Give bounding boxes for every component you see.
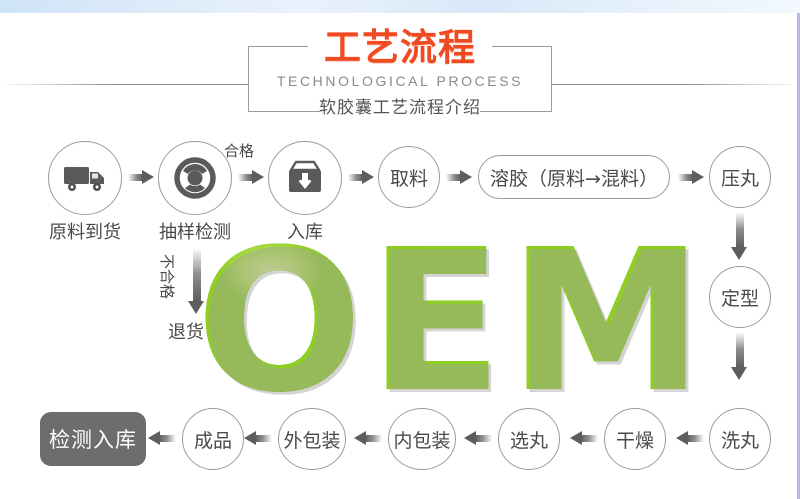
node-shaping[interactable]: 定型 [709, 266, 771, 328]
inbox-down-icon [269, 142, 341, 214]
node-label-final-inspection-warehouse: 检测入库 [49, 424, 137, 454]
label-pass: 合格 [224, 140, 254, 161]
arrow-pickup-to-gel [446, 172, 472, 183]
node-label-material-pickup: 取料 [390, 164, 428, 191]
arrow-drying-to-selection [570, 433, 598, 444]
page-title: 工艺流程 [0, 28, 800, 68]
node-drying[interactable]: 干燥 [604, 408, 666, 470]
arrow-selection-to-inner-packaging [464, 433, 492, 444]
top-decorative-band [0, 0, 800, 13]
node-label-pill-washing: 洗丸 [721, 426, 759, 453]
node-gel-dissolving[interactable]: 溶胶（原料→混料） [478, 155, 670, 199]
header: 工艺流程 TECHNOLOGICAL PROCESS 软胶囊工艺流程介绍 [0, 14, 800, 126]
truck-icon [49, 142, 121, 214]
node-sampling-inspection[interactable] [158, 141, 232, 215]
arrow-inner-to-outer-packaging [354, 433, 382, 444]
label-fail: 不合格 [157, 254, 178, 299]
node-label-outer-packaging: 外包装 [283, 426, 340, 453]
page-subtitle-en: TECHNOLOGICAL PROCESS [0, 72, 800, 90]
arrow-outer-packaging-to-finished [244, 433, 272, 444]
caption-raw-material-arrival: 原料到货 [28, 218, 142, 244]
node-material-pickup[interactable]: 取料 [378, 146, 440, 208]
label-return-goods: 退货 [168, 318, 204, 344]
node-pill-washing[interactable]: 洗丸 [709, 408, 771, 470]
node-label-gel-dissolving: 溶胶（原料→混料） [490, 164, 658, 191]
node-inner-packaging[interactable]: 内包装 [388, 408, 456, 470]
node-pill-pressing[interactable]: 压丸 [709, 146, 771, 208]
node-warehouse-in[interactable] [268, 141, 342, 215]
arrow-arrival-to-sampling [128, 172, 154, 183]
arrow-finished-to-final-inspection [148, 433, 176, 444]
page-subtitle-cn: 软胶囊工艺流程介绍 [0, 97, 800, 119]
node-label-inner-packaging: 内包装 [393, 426, 450, 453]
node-label-shaping: 定型 [721, 284, 759, 311]
oem-watermark: OEM [196, 232, 736, 412]
process-flow-infographic: 工艺流程 TECHNOLOGICAL PROCESS 软胶囊工艺流程介绍 OEM… [0, 0, 800, 499]
node-label-pill-selection: 选丸 [510, 426, 548, 453]
node-pill-selection[interactable]: 选丸 [498, 408, 560, 470]
node-final-inspection-warehouse[interactable]: 检测入库 [40, 412, 146, 466]
node-outer-packaging[interactable]: 外包装 [278, 408, 346, 470]
arrow-pressing-to-shaping [733, 212, 746, 260]
node-label-drying: 干燥 [616, 426, 654, 453]
arrow-sampling-to-warehouse [238, 172, 264, 183]
node-label-pill-pressing: 压丸 [721, 164, 759, 191]
arrow-shaping-to-washing [733, 332, 746, 380]
arrow-washing-to-drying [676, 433, 704, 444]
sampling-icon [159, 142, 231, 214]
caption-warehouse-in: 入库 [258, 218, 352, 244]
node-finished-product[interactable]: 成品 [182, 408, 244, 470]
node-label-finished-product: 成品 [194, 426, 232, 453]
node-raw-material-arrival[interactable] [48, 141, 122, 215]
caption-sampling-inspection: 抽样检测 [138, 218, 252, 244]
arrow-fail-to-return [190, 248, 203, 314]
arrow-gel-to-pressing [678, 172, 704, 183]
arrow-warehouse-to-pickup [348, 172, 374, 183]
